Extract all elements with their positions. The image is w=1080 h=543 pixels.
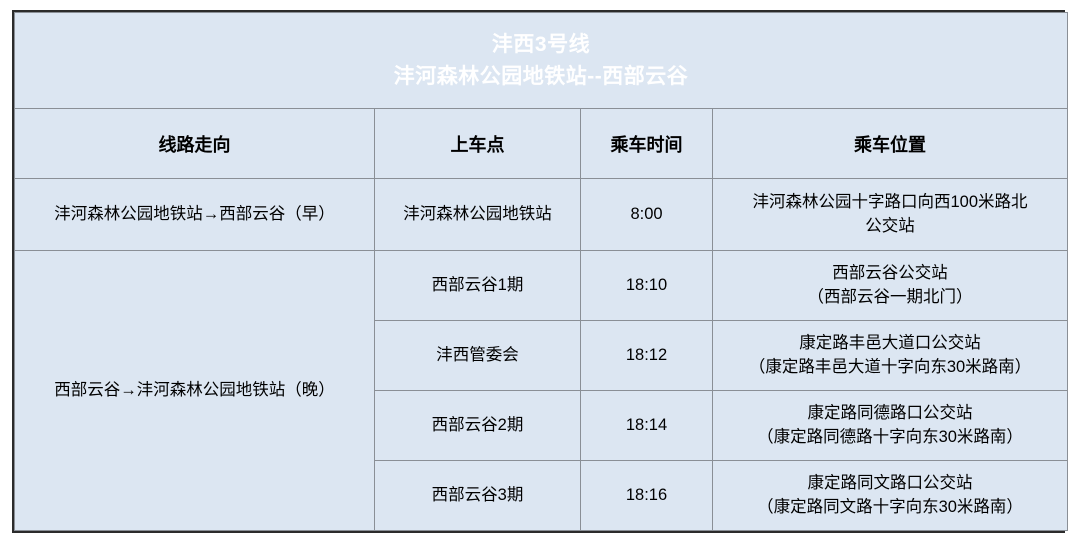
schedule-sheet: 沣西3号线 沣河森林公园地铁站--西部云谷 线路走向 上车点 乘车时间 乘车位置… xyxy=(12,10,1065,533)
column-header-position: 乘车位置 xyxy=(713,109,1068,179)
boarding-stop: 沣西管委会 xyxy=(375,321,581,391)
column-header-row: 线路走向 上车点 乘车时间 乘车位置 xyxy=(15,109,1068,179)
boarding-position: 康定路同德路口公交站 （康定路同德路十字向东30米路南） xyxy=(713,391,1068,461)
table-row: 西部云谷→沣河森林公园地铁站（晚） 西部云谷1期 18:10 西部云谷公交站 （… xyxy=(15,251,1068,321)
departure-time: 8:00 xyxy=(581,179,713,251)
shuttle-schedule-table: 沣西3号线 沣河森林公园地铁站--西部云谷 线路走向 上车点 乘车时间 乘车位置… xyxy=(14,12,1068,531)
boarding-position-line-2: 公交站 xyxy=(719,215,1061,238)
boarding-position: 康定路同文路口公交站 （康定路同文路十字向东30米路南） xyxy=(713,461,1068,531)
boarding-position-line-2: （康定路同德路十字向东30米路南） xyxy=(719,426,1061,449)
boarding-position: 沣河森林公园十字路口向西100米路北 公交站 xyxy=(713,179,1068,251)
boarding-position-line-1: 康定路同德路口公交站 xyxy=(719,402,1061,425)
boarding-position-line-2: （康定路同文路十字向东30米路南） xyxy=(719,496,1061,519)
boarding-position-line-2: （西部云谷一期北门） xyxy=(719,286,1061,309)
column-header-stop: 上车点 xyxy=(375,109,581,179)
boarding-stop: 西部云谷2期 xyxy=(375,391,581,461)
line-route-endpoints: 沣河森林公园地铁站--西部云谷 xyxy=(21,61,1061,92)
boarding-position: 康定路丰邑大道口公交站 （康定路丰邑大道十字向东30米路南） xyxy=(713,321,1068,391)
boarding-position: 西部云谷公交站 （西部云谷一期北门） xyxy=(713,251,1068,321)
departure-time: 18:14 xyxy=(581,391,713,461)
departure-time: 18:12 xyxy=(581,321,713,391)
route-direction-morning: 沣河森林公园地铁站→西部云谷（早） xyxy=(15,179,375,251)
column-header-time: 乘车时间 xyxy=(581,109,713,179)
boarding-stop: 西部云谷3期 xyxy=(375,461,581,531)
boarding-position-line-1: 沣河森林公园十字路口向西100米路北 xyxy=(719,191,1061,214)
departure-time: 18:10 xyxy=(581,251,713,321)
boarding-position-line-1: 康定路丰邑大道口公交站 xyxy=(719,332,1061,355)
boarding-position-line-1: 康定路同文路口公交站 xyxy=(719,472,1061,495)
line-name: 沣西3号线 xyxy=(21,29,1061,60)
route-direction-evening: 西部云谷→沣河森林公园地铁站（晚） xyxy=(15,251,375,531)
departure-time: 18:16 xyxy=(581,461,713,531)
boarding-position-line-1: 西部云谷公交站 xyxy=(719,262,1061,285)
banner-row: 沣西3号线 沣河森林公园地铁站--西部云谷 xyxy=(15,13,1068,109)
table-row: 沣河森林公园地铁站→西部云谷（早） 沣河森林公园地铁站 8:00 沣河森林公园十… xyxy=(15,179,1068,251)
title-banner: 沣西3号线 沣河森林公园地铁站--西部云谷 xyxy=(15,13,1068,109)
column-header-route: 线路走向 xyxy=(15,109,375,179)
boarding-stop: 沣河森林公园地铁站 xyxy=(375,179,581,251)
boarding-stop: 西部云谷1期 xyxy=(375,251,581,321)
boarding-position-line-2: （康定路丰邑大道十字向东30米路南） xyxy=(719,356,1061,379)
